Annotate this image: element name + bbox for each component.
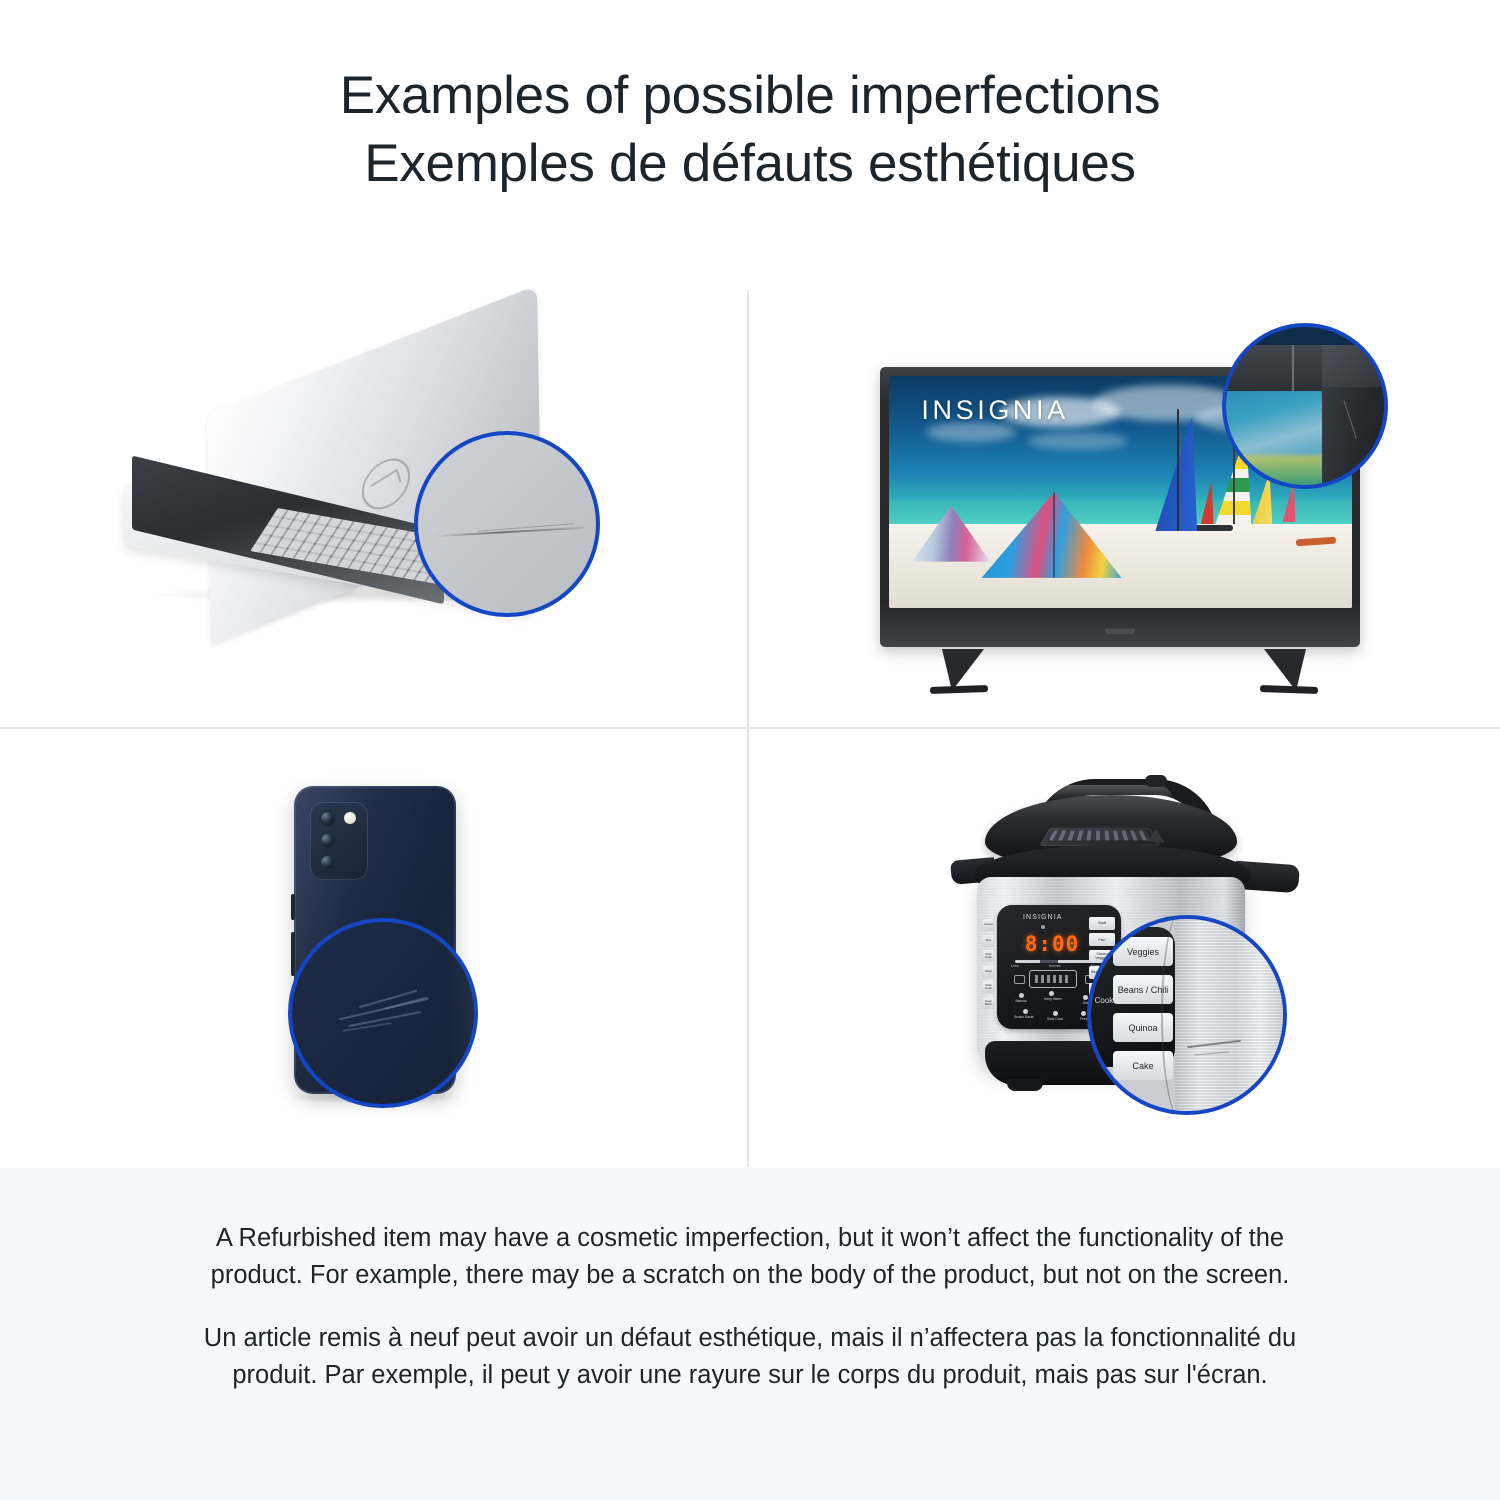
circle-magnifier-cooker: Delay Slow Cook Veggies Beans / Chili Qu… (1087, 915, 1287, 1115)
cooker-label-manual: Manual (1011, 999, 1031, 1004)
tv-stand-foot-right (1260, 685, 1318, 694)
footer-paragraph-french: Un article remis à neuf peut avoir un dé… (185, 1320, 1315, 1394)
bezel-seam (1292, 345, 1294, 391)
camera-lens-icon (319, 832, 336, 849)
phone-volume-button (291, 932, 295, 976)
cooker-button-slow-cook[interactable]: Slow Cook (983, 950, 994, 962)
magnified-left-labels: Delay Slow Cook (1087, 965, 1113, 1013)
cooker-label-brown: Brown Sauté (1013, 1015, 1035, 1020)
magnified-body-curve (1161, 915, 1203, 1115)
cooker-lid-marking (1147, 828, 1166, 842)
cooker-level-bar (1015, 960, 1093, 963)
page-title-english: Examples of possible imperfections (340, 62, 1161, 130)
grid-divider-horizontal (0, 727, 1500, 729)
circle-magnifier-phone (288, 918, 478, 1108)
circle-magnifier-tv (1222, 323, 1388, 489)
tv-stand-foot-left (930, 685, 988, 694)
cooker-level-labels: Less Normal More (1011, 964, 1099, 968)
magnified-bezel-corner (1322, 345, 1384, 387)
circle-magnifier-laptop (414, 431, 600, 617)
laptop-illustration (114, 343, 634, 673)
mast (1177, 409, 1179, 531)
scratch-mark (359, 990, 417, 1008)
cooker-button-cancel[interactable]: Cancel (983, 919, 994, 931)
cooker-steam-valve (1145, 775, 1167, 787)
phone-illustration (224, 778, 524, 1118)
magnified-phone-edge (448, 922, 474, 1104)
cooker-minus-button[interactable] (1014, 975, 1025, 984)
cloud-shape (1028, 432, 1128, 450)
cooker-button-keepwarm[interactable] (1049, 991, 1054, 996)
example-cell-pressure-cooker: INSIGNIA 8:00 Less Normal More (748, 728, 1500, 1168)
example-cell-tv: INSIGNIA (748, 288, 1500, 728)
example-cell-phone (0, 728, 748, 1168)
level-label-less: Less (1011, 964, 1019, 968)
cooker-lid-vent (1039, 828, 1162, 846)
pressure-cooker-illustration: INSIGNIA 8:00 Less Normal More (949, 773, 1299, 1123)
magnified-screen-image-lower (1222, 455, 1326, 487)
tent-pole (1053, 492, 1055, 578)
cooker-label-keepwarm: Keep Warm (1041, 997, 1065, 1002)
sail-blue (1155, 416, 1197, 531)
cooker-timer-display: 8:00 (1021, 932, 1083, 956)
magnified-label-slowcook: Slow Cook (1087, 989, 1113, 1013)
camera-flash-icon (344, 812, 356, 824)
camera-lens-icon (319, 810, 336, 827)
grid-divider-vertical (747, 290, 749, 1167)
cooker-button-pressure[interactable] (1081, 1011, 1086, 1016)
tv-illustration: INSIGNIA (864, 323, 1384, 693)
cooker-brand-label: INSIGNIA (1023, 914, 1063, 921)
page-header: Examples of possible imperfections Exemp… (0, 0, 1500, 258)
imperfections-infographic: Examples of possible imperfections Exemp… (0, 0, 1500, 1500)
level-label-normal: Normal (1049, 964, 1061, 968)
cooker-button-brown[interactable] (1023, 1009, 1028, 1014)
cooker-button-manual[interactable] (1019, 993, 1024, 998)
example-cell-laptop (0, 288, 748, 728)
camera-module (310, 802, 368, 880)
cooker-button-rice[interactable]: Rice (983, 935, 994, 947)
cooker-status-led (1041, 925, 1045, 929)
cooker-label-slowcook: Slow Cook (1043, 1017, 1067, 1022)
tv-led-indicator (1105, 629, 1135, 634)
cooker-keypad[interactable] (1029, 970, 1077, 988)
cooker-button-slow-cook-2[interactable]: Slow Cook (983, 981, 994, 993)
phone-side-button (291, 894, 295, 920)
cooker-button-soup[interactable]: Soup (983, 966, 994, 978)
cooker-button-slowcook[interactable] (1053, 1011, 1058, 1016)
cooker-foot-left (1007, 1079, 1043, 1091)
page-title-french: Exemples de défauts esthétiques (364, 130, 1135, 198)
footer-paragraph-english: A Refurbished item may have a cosmetic i… (185, 1220, 1315, 1294)
cooker-button-keep-warm[interactable]: Keep Warm (983, 997, 994, 1009)
tv-brand-watermark: INSIGNIA (921, 395, 1068, 426)
page-footer: A Refurbished item may have a cosmetic i… (0, 1168, 1500, 1500)
magnified-label-delay: Delay (1087, 965, 1113, 989)
cooker-left-button-column: Cancel Rice Slow Cook Soup Slow Cook Kee… (983, 919, 995, 1013)
camera-lens-icon (319, 854, 336, 871)
